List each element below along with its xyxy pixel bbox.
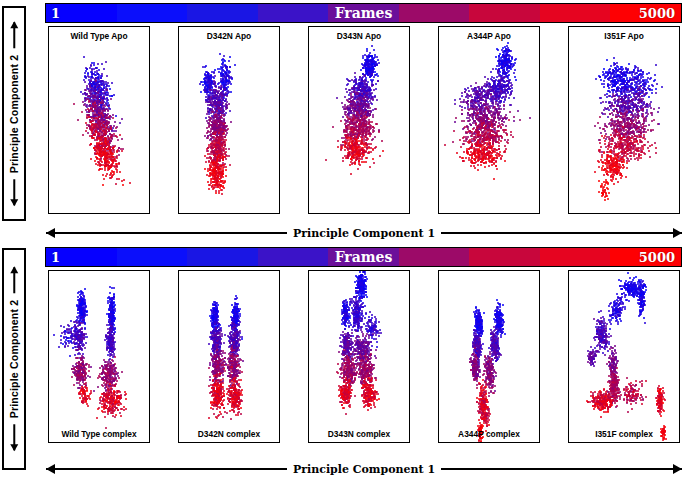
scatter-point [354,395,356,397]
scatter-point [228,155,230,157]
scatter-point [595,355,597,357]
scatter-point [376,346,378,348]
scatter-point [241,338,243,340]
y-tick-mark [178,194,179,195]
scatter-point [613,105,615,107]
scatter-point [360,297,362,299]
scatter-point [112,162,114,164]
scatter-point [603,174,605,176]
scatter-point [483,162,485,164]
scatter-point [642,308,644,310]
scatter-point [106,144,108,146]
scatter-point [639,303,641,305]
scatter-point [354,163,356,165]
scatter-point [495,360,497,362]
scatter-point [643,93,645,95]
scatter-point [600,310,602,312]
scatter-point [454,99,456,101]
scatter-point [597,326,599,328]
panel-a344p-apo: A344P Apo 100806040200-20-40-60-80-100-1… [412,26,540,231]
scatter-point [612,120,614,122]
scatter-point [361,161,363,163]
scatter-point [498,82,500,84]
scatter-point [624,306,626,308]
scatter-point [602,187,604,189]
scatter-point [637,88,639,90]
scatter-point [485,396,487,398]
scatter-point [79,393,81,395]
scatter-point [354,72,356,74]
y-tick-mark [568,138,569,139]
scatter-point [205,161,207,163]
panel-title-i351f-apo: I351F Apo [569,31,679,41]
scatter-point [616,62,618,64]
scatter-point [496,168,498,170]
scatter-point [643,128,645,130]
scatter-point [114,385,116,387]
scatter-point [106,91,108,93]
scatter-point [344,341,346,343]
y-tick-mark [438,288,439,289]
scatter-point [517,110,519,112]
x-tick-mark [82,213,83,214]
scatter-point [207,181,209,183]
scatter-point [609,166,611,168]
scatter-point [610,169,612,171]
x-tick-mark [229,442,230,443]
x-tick-mark [660,442,661,443]
scatter-point [620,303,622,305]
scatter-point [479,94,481,96]
scatter-point [617,156,619,158]
scatter-point [84,328,86,330]
scatter-point [86,389,88,391]
scatter-point [496,307,498,309]
scatter-point [646,105,648,107]
colorbar-segment-7 [117,4,188,22]
scatter-point [629,143,631,145]
scatter-point [501,120,503,122]
scatter-point [375,334,377,336]
y-tick-mark [48,356,49,357]
scatter-point [354,143,356,145]
panel-title-i351f-complex: I351F complex [569,429,679,439]
scatter-point [621,293,623,295]
scatter-point [599,139,601,141]
scatter-point [357,93,359,95]
scatter-point [348,137,350,139]
panel-wild-type-complex: Wild Type complex 100806040200-20-40-60-… [22,270,150,460]
scatter-point [375,357,377,359]
colorbar-max-label-top: 5000 [639,6,675,21]
scatter-point [617,323,619,325]
scatter-point [642,280,644,282]
scatter-point [366,157,368,159]
x-tick-mark [195,442,196,443]
scatter-point [376,341,378,343]
scatter-point [628,300,630,302]
scatter-point [663,425,665,427]
scatter-point [123,179,125,181]
scatter-point [233,411,235,413]
scatter-point [223,399,225,401]
y-tick-mark [178,407,179,408]
scatter-point [118,377,120,379]
x-tick-mark [115,213,116,214]
scatter-point [110,140,112,142]
scatter-point [610,151,612,153]
scatter-point [341,102,343,104]
scatter-point [88,116,90,118]
scatter-point [604,189,606,191]
scatter-point [109,355,111,357]
scatter-point [487,97,489,99]
scatter-point [483,401,485,403]
scatter-point [494,385,496,387]
scatter-point [111,412,113,414]
scatter-point [464,126,466,128]
scatter-point [342,116,344,118]
x-tick-mark [229,213,230,214]
scatter-point [607,198,609,200]
scatter-point [364,317,366,319]
scatter-point [475,377,477,379]
scatter-point [511,56,513,58]
scatter-point [490,332,492,334]
scatter-point [499,151,501,153]
scatter-point [463,120,465,122]
scatter-point [636,83,638,85]
scatter-point [364,305,366,307]
scatter-point [591,356,593,358]
scatter-point [363,380,365,382]
scatter-point [613,305,615,307]
scatter-point [209,92,211,94]
scatter-point [363,406,365,408]
scatter-point [378,321,380,323]
scatter-point [631,408,633,410]
scatter-point [236,315,238,317]
y-tick-mark [178,45,179,46]
scatter-point [617,311,619,313]
scatter-point [624,123,626,125]
scatter-point [214,75,216,77]
scatter-point [86,336,88,338]
scatter-point [372,116,374,118]
scatter-point [345,413,347,415]
scatter-point [101,63,103,65]
scatter-point [508,82,510,84]
scatter-point [616,367,618,369]
scatter-point [224,357,226,359]
scatter-point [225,166,227,168]
scatter-point [473,375,475,377]
scatter-point [493,351,495,353]
x-tick-mark [309,213,310,214]
x-tick-mark [195,213,196,214]
scatter-point [474,148,476,150]
scatter-point [622,102,624,104]
scatter-point [499,306,501,308]
scatter-point [632,120,634,122]
scatter-point [342,377,344,379]
scatter-point [352,153,354,155]
scatter-point [118,154,120,156]
scatter-point [78,321,80,323]
scatter-point [661,86,663,88]
scatter-point [600,146,602,148]
y-tick-mark [178,175,179,176]
scatter-point [514,59,516,61]
y-tick-mark [48,305,49,306]
x-axis-arrow-left-bottom [46,468,287,471]
scatter-point [475,82,477,84]
y-tick-mark [308,157,309,158]
scatter-point [369,135,371,137]
scatter-point [120,415,122,417]
scatter-point [489,142,491,144]
scatter-point [638,100,640,102]
scatter-point [341,393,343,395]
scatter-point [478,365,480,367]
scatter-point [611,143,613,145]
scatter-point [601,404,603,406]
scatter-point [646,115,648,117]
scatter-point [212,111,214,113]
x-tick-mark [455,442,456,443]
scatter-point [109,177,111,179]
scatter-point [238,310,240,312]
scatter-point [368,335,370,337]
scatter-point [361,331,363,333]
scatter-point [479,335,481,337]
scatter-point [217,415,219,417]
y-tick-mark [438,82,439,83]
scatter-point [619,396,621,398]
scatter-point [500,323,502,325]
scatter-point [370,341,372,343]
scatter-point [489,367,491,369]
scatter-point [73,384,75,386]
scatter-point [616,293,618,295]
scatter-point [229,56,231,58]
scatter-point [655,152,657,154]
scatter-point [650,77,652,79]
scatter-point [627,411,629,413]
scatter-point [653,80,655,82]
scatter-point [627,391,629,393]
x-tick-mark [539,213,540,214]
scatter-point [349,317,351,319]
scatter-point [489,372,491,374]
scatter-point [600,132,602,134]
scatter-point [617,101,619,103]
x-tick-mark [472,442,473,443]
x-tick-mark [49,213,50,214]
scatter-point [647,81,649,83]
x-tick-mark [587,213,588,214]
scatter-point [229,333,231,335]
y-tick-mark [178,82,179,83]
scatter-point [238,403,240,405]
scatter-point [100,112,102,114]
panel-title-d343n-complex: D343N complex [309,429,409,439]
scatter-point [96,148,98,150]
panel-title-wild-type-complex: Wild Type complex [49,429,149,439]
scatter-point [505,75,507,77]
scatter-point [660,415,662,417]
scatter-point [366,345,368,347]
scatter-point [608,310,610,312]
x-tick-mark [392,442,393,443]
scatter-point [515,79,517,81]
scatter-point [125,408,127,410]
scatter-point [85,342,87,344]
scatter-point [208,367,210,369]
scatter-point [370,147,372,149]
scatter-point [615,315,617,317]
scatter-point [655,92,657,94]
scatter-point [360,69,362,71]
scatter-point [222,136,224,138]
scatter-point [365,131,367,133]
scatter-point [493,82,495,84]
scatter-point [222,350,224,352]
scatter-point [505,52,507,54]
scatter-point [371,121,373,123]
scatter-point [606,323,608,325]
scatter-point [354,369,356,371]
scatter-point [348,337,350,339]
scatter-point [614,63,616,65]
scatter-point [114,370,116,372]
scatter-point [349,303,351,305]
scatter-point [608,192,610,194]
x-tick-mark [342,213,343,214]
scatter-point [365,291,367,293]
scatter-point [121,150,123,152]
scatter-point [638,292,640,294]
plot-area-a344p-apo: A344P Apo 100806040200-20-40-60-80-100-1… [438,26,540,214]
scatter-point [487,152,489,154]
scatter-point [620,177,622,179]
x-tick-mark [624,213,625,214]
scatter-point [475,369,477,371]
scatter-point [84,347,86,349]
scatter-point [96,150,98,152]
y-tick-mark [308,295,309,296]
scatter-point [360,275,362,277]
panel-title-d342n-apo: D342N Apo [179,31,279,41]
scatter-point [616,162,618,164]
scatter-point [483,111,485,113]
scatter-point [486,95,488,97]
scatter-point [655,397,657,399]
scatter-point [354,281,356,283]
scatter-point [103,178,105,180]
scatter-point [628,63,630,65]
scatter-point [88,395,90,397]
y-tick-mark [48,288,49,289]
x-tick-mark [569,213,570,214]
scatter-point [213,186,215,188]
scatter-point [623,398,625,400]
scatter-point [498,354,500,356]
scatter-point [614,386,616,388]
scatter-point [348,400,350,402]
scatter-point [211,387,213,389]
scatter-point [118,147,120,149]
scatter-point [229,392,231,394]
scatter-point [208,343,210,345]
scatter-point [77,119,79,121]
scatter-point [110,164,112,166]
scatter-point [655,88,657,90]
scatter-point [651,89,653,91]
scatter-point [370,349,372,351]
scatter-point [641,100,643,102]
scatter-point [107,408,109,410]
scatter-point [620,312,622,314]
scatter-point [60,342,62,344]
scatter-point [340,401,342,403]
scatter-point [343,402,345,404]
scatter-point [641,396,643,398]
scatter-point [652,129,654,131]
scatter-point [122,184,124,186]
scatter-point [626,162,628,164]
scatter-point [109,401,111,403]
scatter-point [213,72,215,74]
scatter-point [205,65,207,67]
scatter-point [378,332,380,334]
scatter-point [75,346,77,348]
scatter-point [233,341,235,343]
scatter-point [645,131,647,133]
scatter-point [642,291,644,293]
scatter-point [366,356,368,358]
scatter-point [217,175,219,177]
scatter-point [362,315,364,317]
scatter-point [354,348,356,350]
x-tick-mark [132,213,133,214]
y-tick-mark [568,376,569,377]
scatter-point [623,159,625,161]
scatter-point [459,98,461,100]
colorbar-top: 1 Frames 5000 [45,3,682,23]
scatter-point [477,112,479,114]
y-tick-mark [438,45,439,46]
scatter-point [85,400,87,402]
scatter-point [629,128,631,130]
scatter-point [344,149,346,151]
scatter-point [88,366,90,368]
scatter-point [106,120,108,122]
scatter-point [619,125,621,127]
scatter-point [224,370,226,372]
scatter-point [493,91,495,93]
x-tick-mark [262,213,263,214]
scatter-point [211,160,213,162]
scatter-point [592,351,594,353]
x-axis-arrow-left-top [46,232,287,235]
scatter-point [93,105,95,107]
scatter-point [626,167,628,169]
scatter-point [624,75,626,77]
scatter-point [86,85,88,87]
scatter-point [599,142,601,144]
scatter-point [589,351,591,353]
